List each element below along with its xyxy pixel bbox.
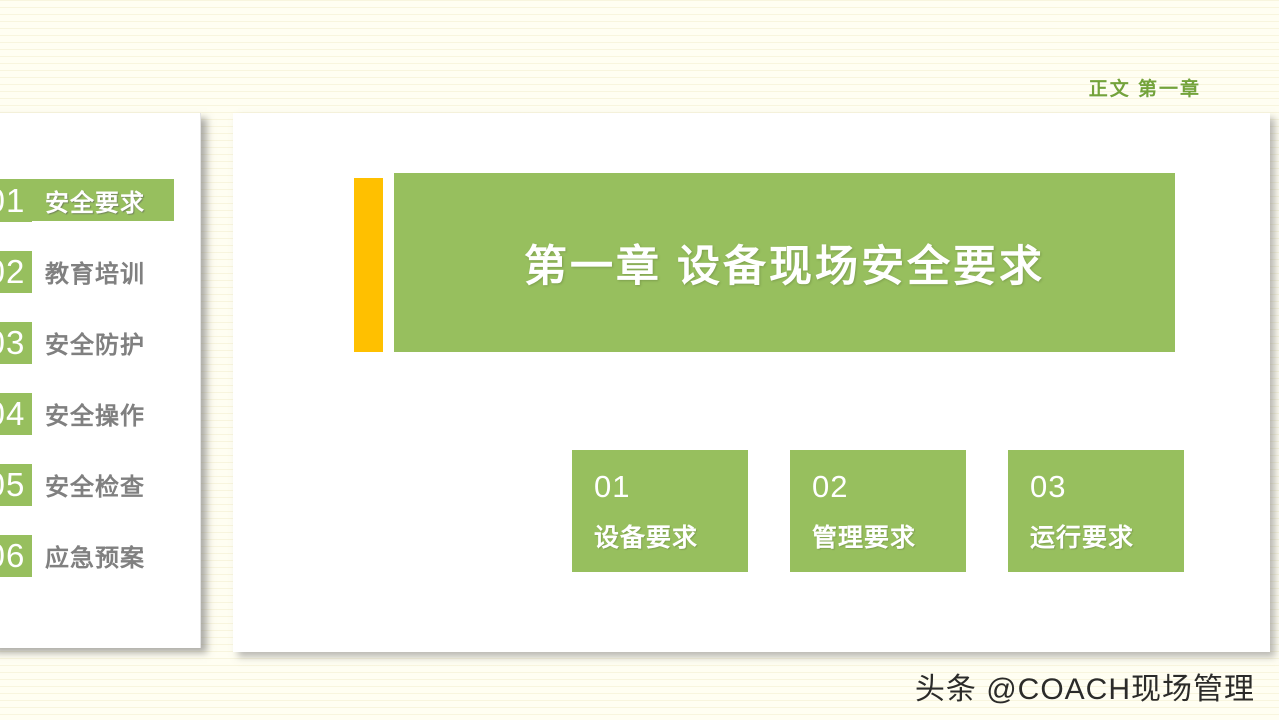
sidebar-item-label: 安全检查 (45, 467, 145, 502)
chapter-header-label: 正文 第一章 (1089, 74, 1201, 101)
sidebar-nav-list: 01 安全要求 02 教育培训 03 安全防护 04 安全操作 05 安全检查 … (0, 165, 200, 591)
sidebar-item-label: 安全要求 (45, 183, 145, 218)
sidebar-item-number: 04 (0, 393, 32, 435)
sidebar-item-03[interactable]: 03 安全防护 (0, 307, 200, 378)
sidebar-item-number: 01 (0, 180, 32, 222)
card-number: 02 (812, 468, 966, 506)
footer-watermark: 头条 @COACH现场管理 (915, 664, 1255, 708)
chapter-title-text: 第一章 设备现场安全要求 (524, 232, 1045, 294)
card-number: 03 (1030, 468, 1184, 506)
sidebar-panel: 01 安全要求 02 教育培训 03 安全防护 04 安全操作 05 安全检查 … (0, 113, 201, 648)
title-accent-bar (354, 178, 383, 352)
sidebar-item-label: 安全防护 (45, 325, 145, 360)
sidebar-item-04[interactable]: 04 安全操作 (0, 378, 200, 449)
section-card-03[interactable]: 03 运行要求 (1008, 450, 1184, 572)
section-card-01[interactable]: 01 设备要求 (572, 450, 748, 572)
section-card-02[interactable]: 02 管理要求 (790, 450, 966, 572)
sidebar-item-number: 03 (0, 322, 32, 364)
card-label: 设备要求 (594, 518, 748, 554)
card-label: 运行要求 (1030, 518, 1184, 554)
sidebar-item-label: 教育培训 (45, 254, 145, 289)
sidebar-item-number: 02 (0, 251, 32, 293)
sidebar-item-label: 应急预案 (45, 538, 145, 573)
sidebar-item-02[interactable]: 02 教育培训 (0, 236, 200, 307)
sidebar-item-01[interactable]: 01 安全要求 (0, 165, 200, 236)
chapter-title-banner: 第一章 设备现场安全要求 (394, 173, 1175, 352)
sidebar-item-label: 安全操作 (45, 396, 145, 431)
section-cards: 01 设备要求 02 管理要求 03 运行要求 (572, 450, 1184, 572)
sidebar-item-number: 05 (0, 464, 32, 506)
sidebar-item-number: 06 (0, 535, 32, 577)
card-number: 01 (594, 468, 748, 506)
sidebar-item-05[interactable]: 05 安全检查 (0, 449, 200, 520)
card-label: 管理要求 (812, 518, 966, 554)
sidebar-item-06[interactable]: 06 应急预案 (0, 520, 200, 591)
